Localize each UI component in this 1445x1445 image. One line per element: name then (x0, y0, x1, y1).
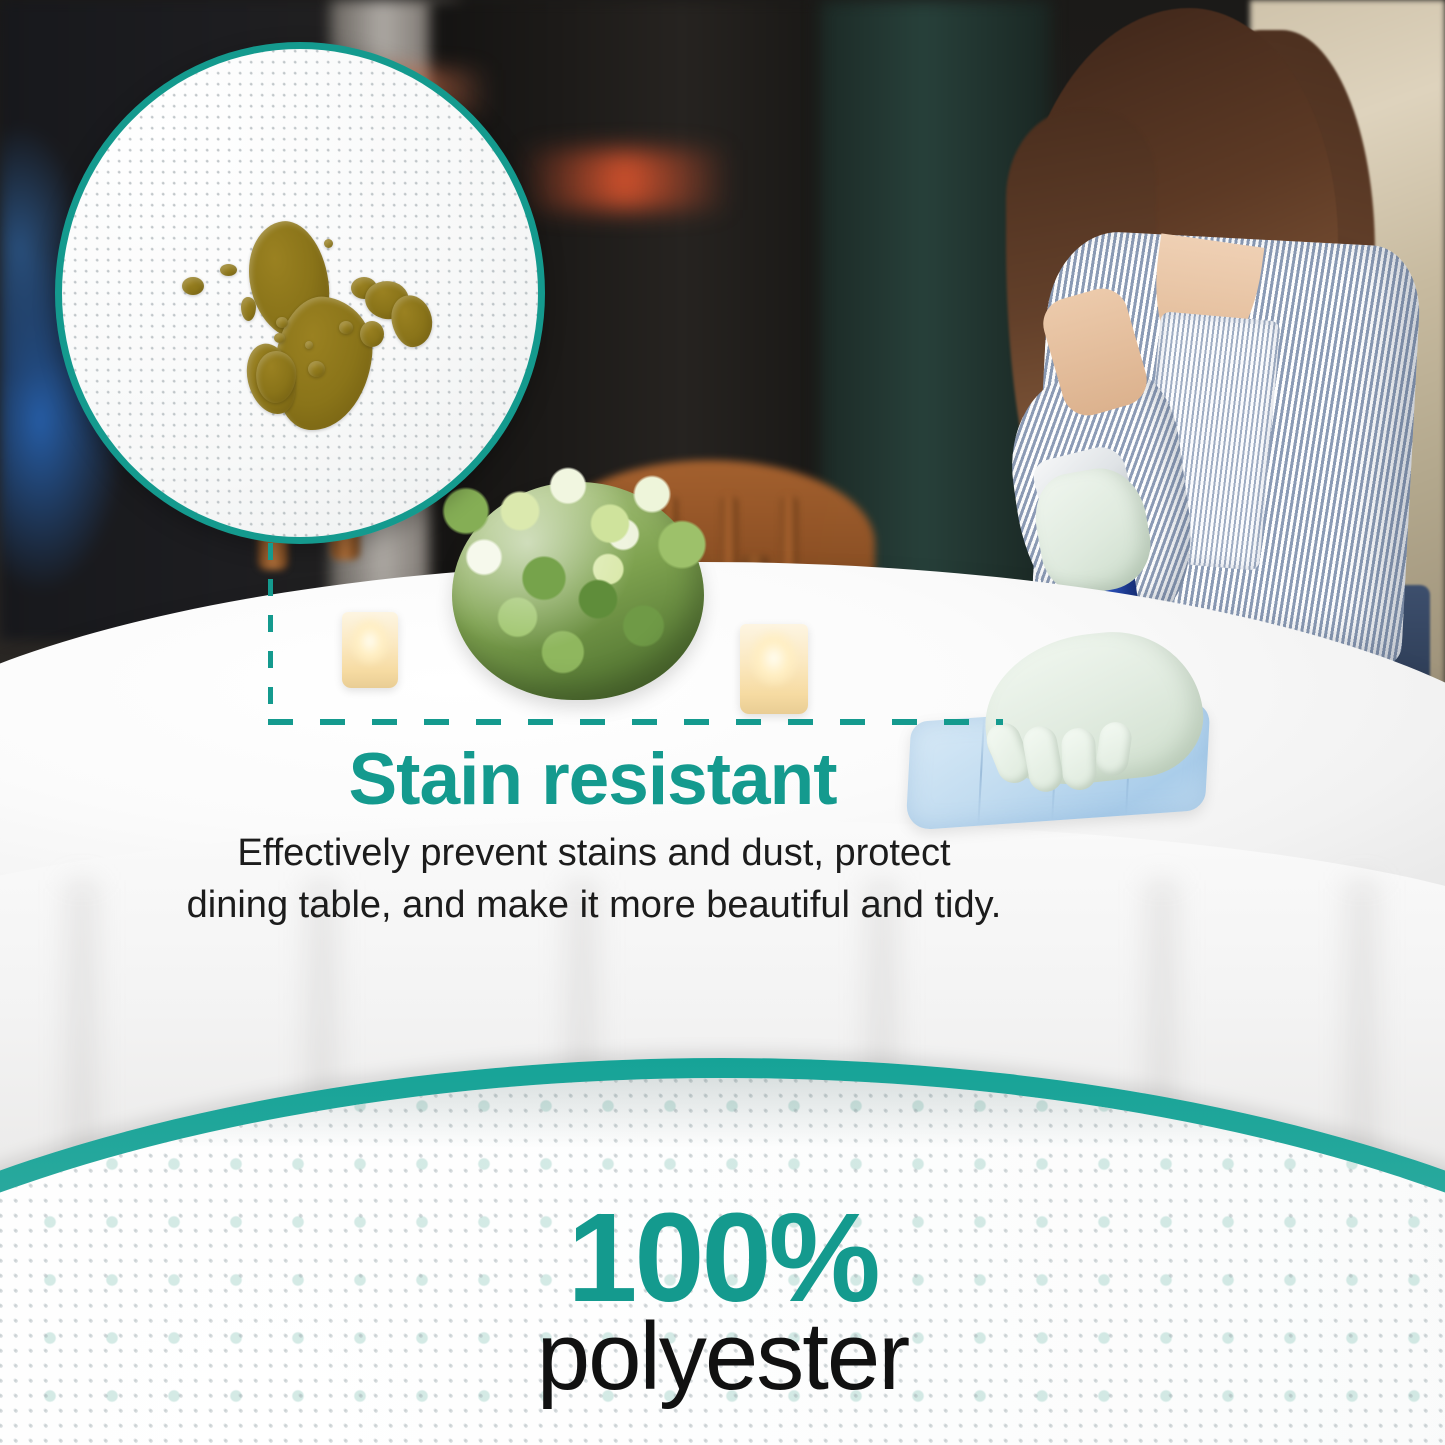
stain-blob (305, 341, 313, 349)
stain-blob (360, 321, 384, 347)
feature-subcopy-line1: Effectively prevent stains and dust, pro… (30, 828, 1158, 880)
stain-blob (182, 277, 204, 295)
connector-dashed-vertical (268, 543, 273, 725)
stain-blob (220, 264, 237, 276)
connector-dashed-horizontal (268, 719, 1003, 725)
table-candle (740, 624, 808, 714)
feature-headline: Stain resistant (0, 738, 1185, 821)
feature-subcopy: Effectively prevent stains and dust, pro… (30, 828, 1158, 931)
stain-blob (276, 317, 288, 328)
background-red-light (520, 150, 730, 210)
stain-closeup-circle (55, 42, 545, 544)
product-feature-image: Stain resistant Effectively prevent stai… (0, 0, 1445, 1445)
arc-inner-shadow (0, 1078, 1445, 1148)
material-fabric-name: polyester (0, 1302, 1445, 1412)
chair-spindle-4 (780, 495, 798, 573)
stain-blob (324, 239, 333, 248)
table-candle (342, 612, 398, 688)
stain-blob (308, 361, 325, 377)
stain-blob (339, 321, 353, 334)
feature-subcopy-line2: dining table, and make it more beautiful… (30, 880, 1158, 932)
stain-blob (274, 333, 285, 343)
